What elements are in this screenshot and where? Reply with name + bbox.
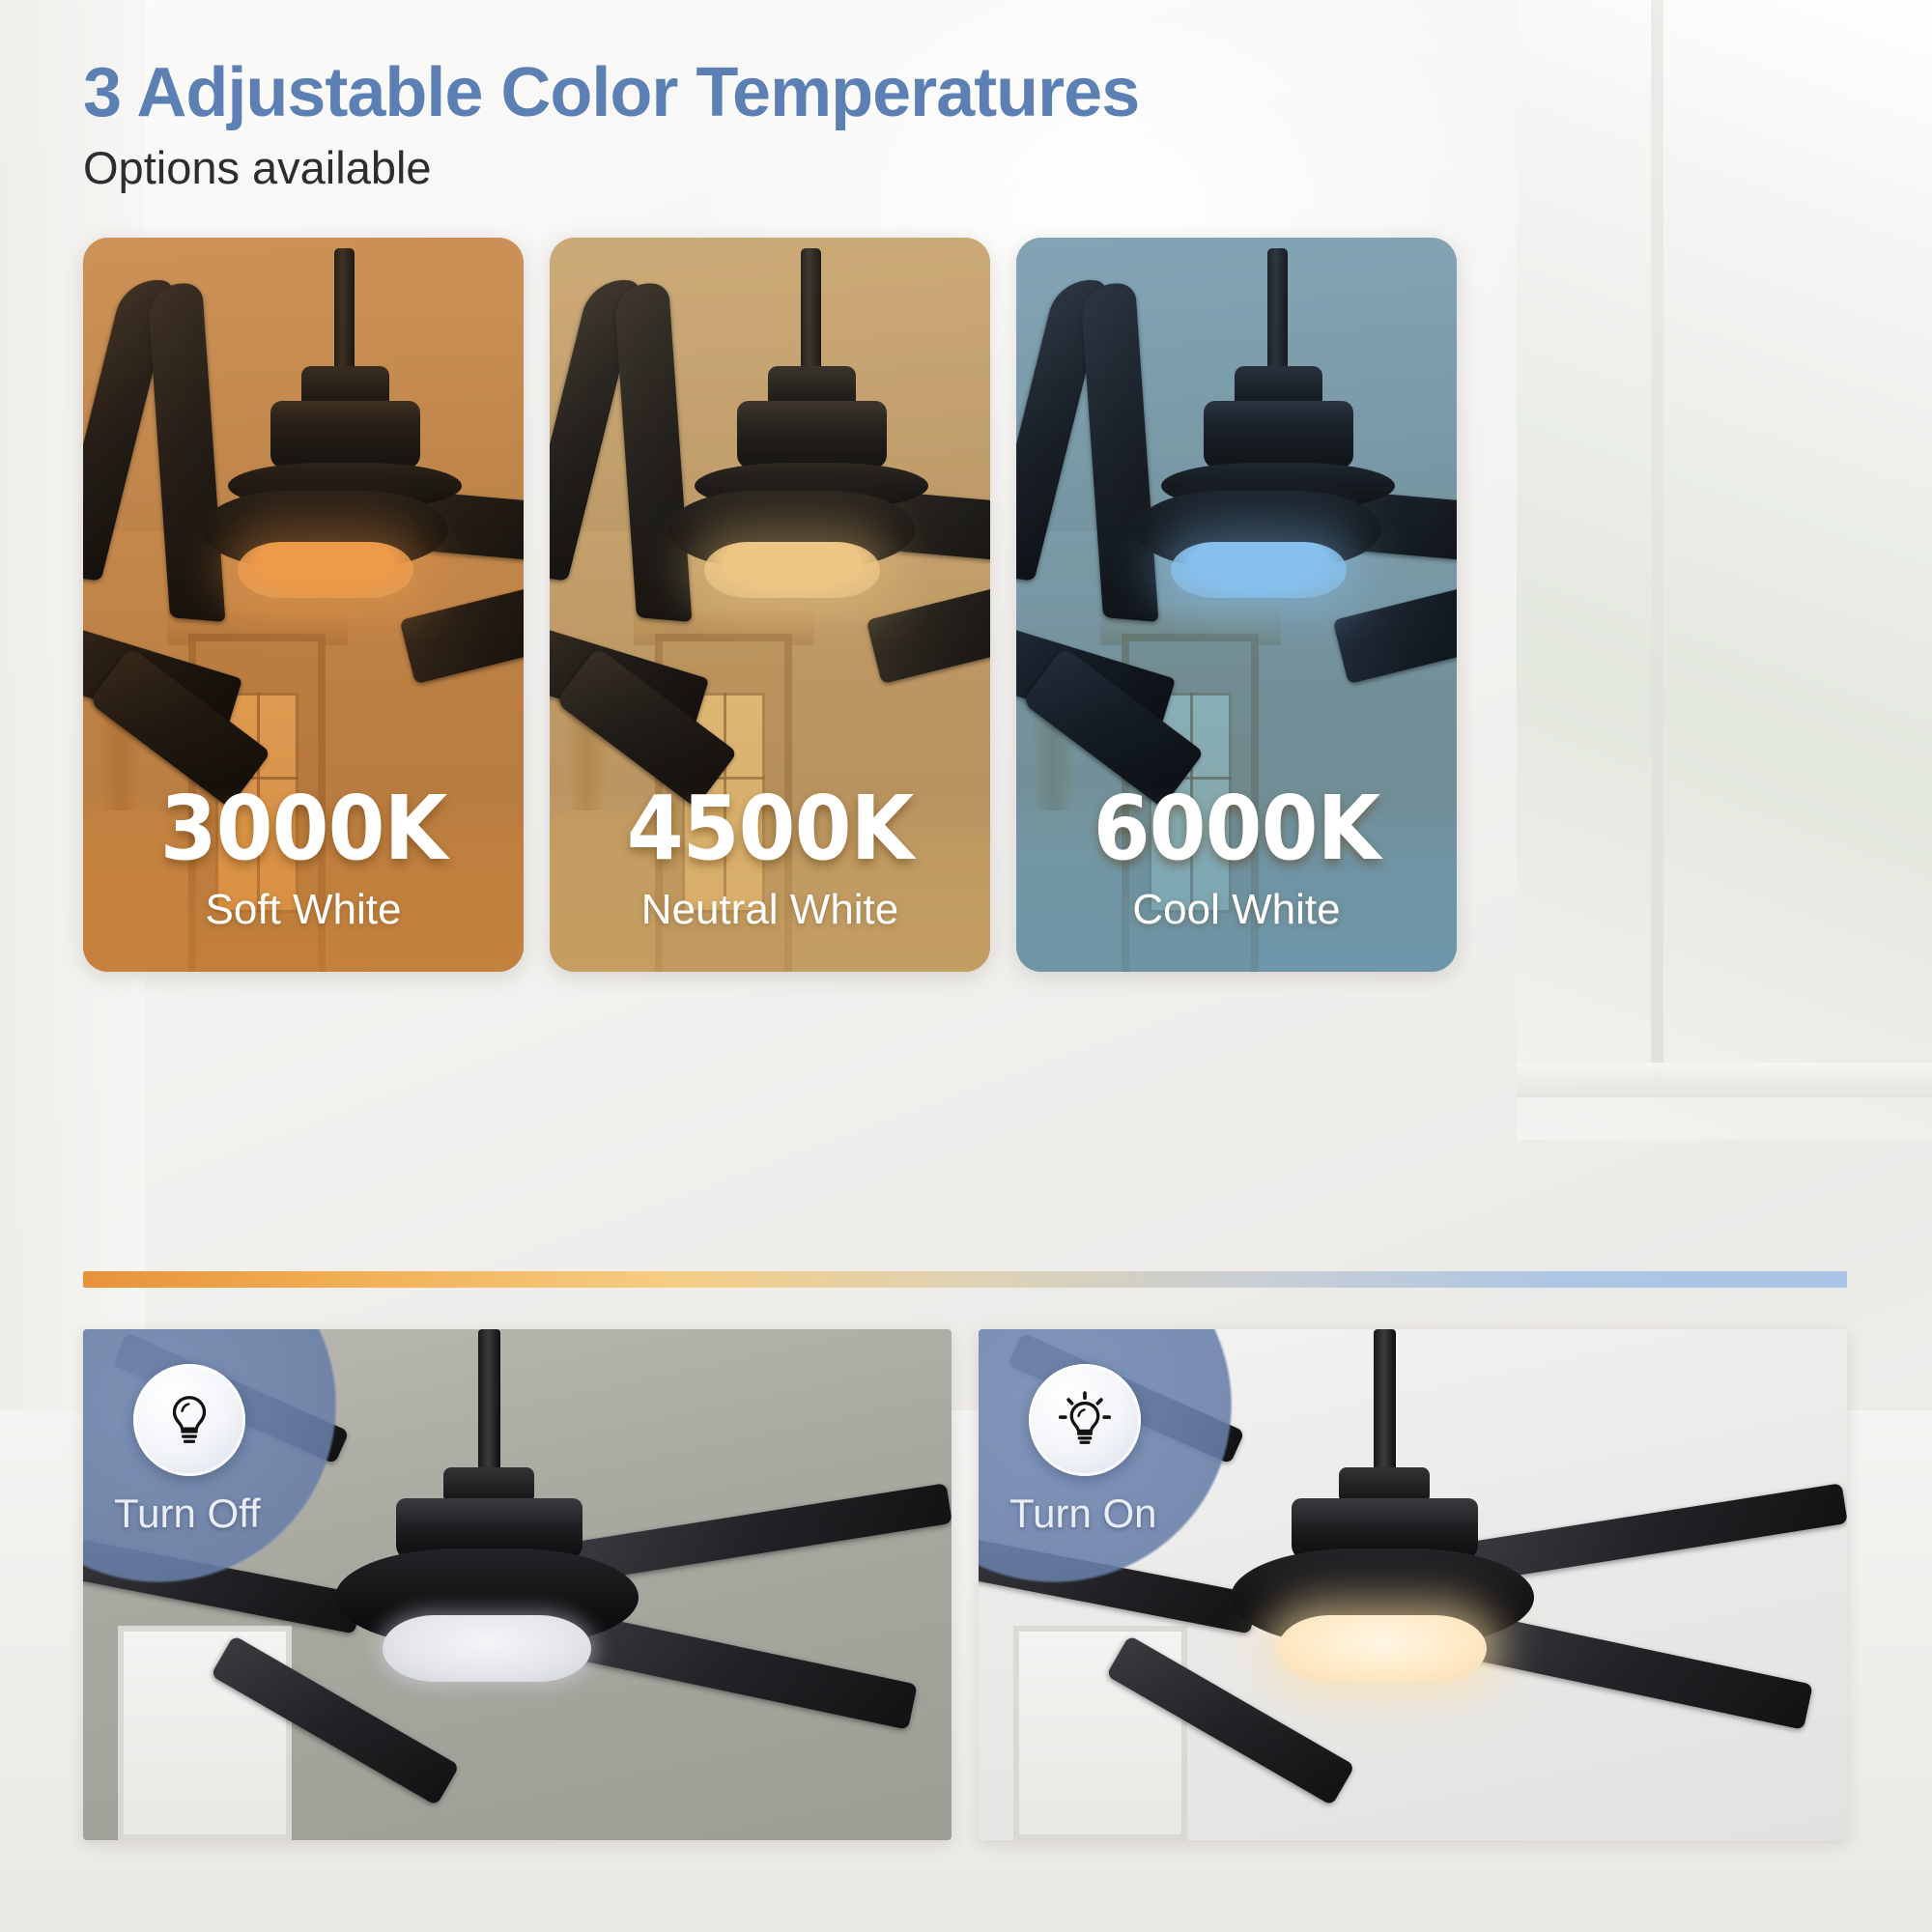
page-subtitle: Options available: [83, 143, 1139, 193]
color-temperature-card-row: 3000K Soft White: [83, 238, 1457, 972]
background-window-sill: [1517, 1063, 1932, 1097]
fan-blade: [569, 1484, 952, 1584]
background-window: [1517, 0, 1932, 1140]
kelvin-name: Soft White: [83, 889, 524, 931]
card-caption: 4500K Neutral White: [550, 784, 990, 972]
lightbulb-off-icon[interactable]: [133, 1364, 245, 1476]
card-caption: 3000K Soft White: [83, 784, 524, 972]
fan-led-lens: [383, 1615, 591, 1682]
background-window-mullion: [1651, 0, 1663, 1082]
fan-downrod: [478, 1329, 500, 1472]
fan-downrod: [1374, 1329, 1396, 1472]
light-toggle-panel-row: Turn Off: [83, 1329, 1847, 1840]
kelvin-value: 4500K: [567, 784, 973, 873]
kelvin-name: Cool White: [1016, 889, 1457, 931]
temperature-card-3000k[interactable]: 3000K Soft White: [83, 238, 524, 972]
fan-led-lens: [1278, 1615, 1487, 1682]
header: 3 Adjustable Color Temperatures Options …: [83, 56, 1139, 193]
temperature-card-4500k[interactable]: 4500K Neutral White: [550, 238, 990, 972]
turn-off-label: Turn Off: [114, 1493, 261, 1534]
kelvin-name: Neutral White: [550, 889, 990, 931]
card-caption: 6000K Cool White: [1016, 784, 1457, 972]
panel-turn-off[interactable]: Turn Off: [83, 1329, 952, 1840]
panel-turn-on[interactable]: Turn On: [979, 1329, 1847, 1840]
kelvin-value: 3000K: [100, 784, 506, 873]
kelvin-value: 6000K: [1034, 784, 1439, 873]
gradient-divider: [83, 1271, 1847, 1288]
lightbulb-on-icon[interactable]: [1029, 1364, 1141, 1476]
turn-on-label: Turn On: [1009, 1493, 1157, 1534]
page-title: 3 Adjustable Color Temperatures: [83, 56, 1139, 129]
temperature-card-6000k[interactable]: 6000K Cool White: [1016, 238, 1457, 972]
fan-blade: [1464, 1484, 1847, 1584]
